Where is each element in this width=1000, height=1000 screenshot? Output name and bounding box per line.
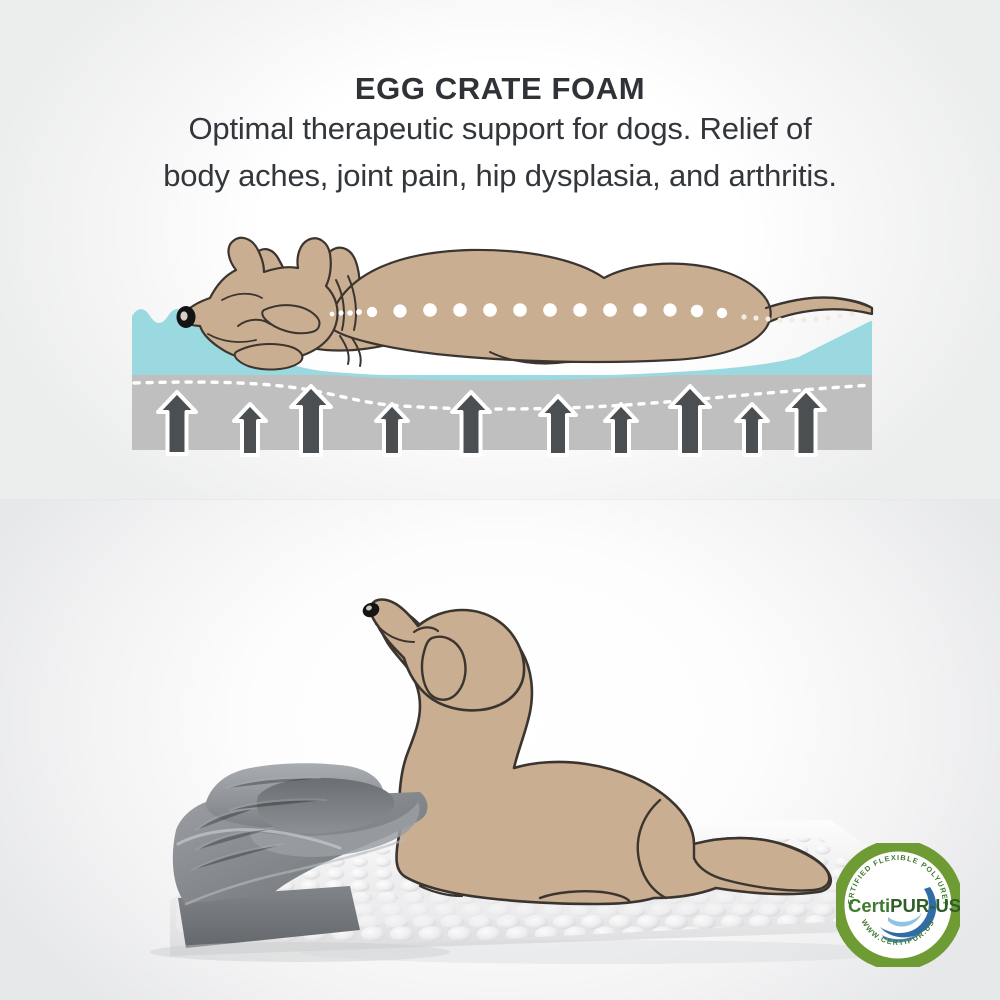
egg-crate-foam-description: Optimal therapeutic support for dogs. Re…	[0, 105, 1000, 199]
page-title-egg-crate-foam: EGG CRATE FOAM	[0, 71, 1000, 107]
dog-on-bed-illustration	[360, 600, 830, 905]
certipur-us-badge: CONTAINS CERTIFIED FLEXIBLE POLYURETHANE…	[836, 843, 960, 967]
badge-wordmark: CertiPUR-US®	[848, 895, 960, 916]
product-feature-infographic: EGG CRATE FOAM Optimal therapeutic suppo…	[0, 0, 1000, 1000]
dog-ear	[422, 637, 465, 700]
description-line-2: body aches, joint pain, hip dysplasia, a…	[0, 152, 1000, 199]
dog-lying-illustration	[177, 238, 873, 370]
description-line-1: Optimal therapeutic support for dogs. Re…	[0, 105, 1000, 152]
panel-egg-crate-foam: EGG CRATE FOAM Optimal therapeutic suppo…	[0, 0, 1000, 500]
dog-front-paw	[235, 344, 303, 369]
